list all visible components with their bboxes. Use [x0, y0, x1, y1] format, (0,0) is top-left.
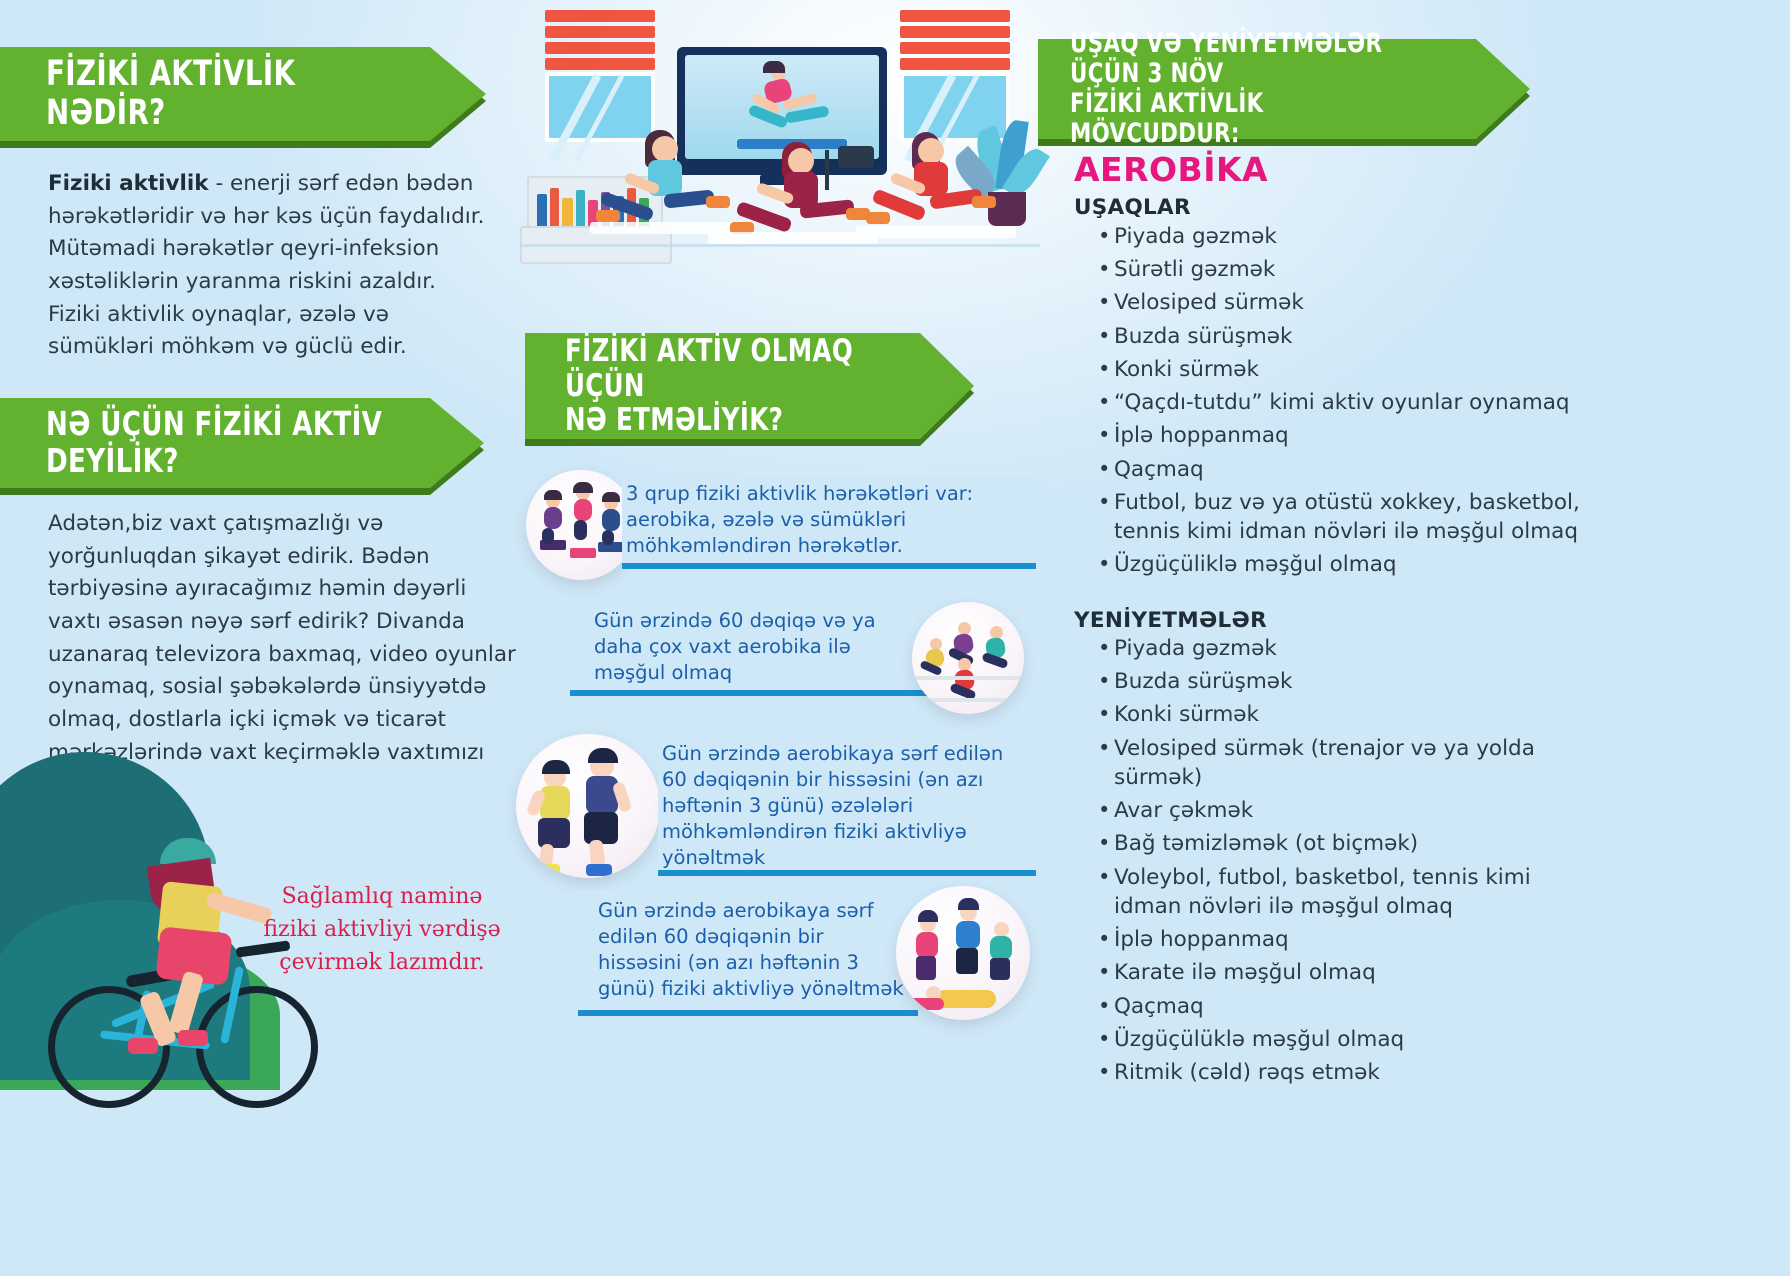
banner-arrow-tip	[430, 47, 486, 141]
group-workout-photo	[896, 886, 1030, 1020]
yoga-mat-2	[708, 232, 878, 244]
tv-box	[838, 146, 874, 168]
callout-4: Gün ərzində aerobikaya sərf edilən 60 də…	[578, 890, 918, 1010]
callout-4-text: Gün ərzində aerobikaya sərf edilən 60 də…	[594, 890, 918, 1011]
list-item: Avar çəkmək	[1098, 796, 1598, 825]
callout-3: Gün ərzində aerobikaya sərf edilən 60 də…	[658, 742, 1062, 870]
banner-three-types-line1: UŞAQ VƏ YENİYETMƏLƏR ÜÇÜN 3 NÖV	[1070, 28, 1382, 89]
list-item: İplə hoppanmaq	[1098, 925, 1598, 954]
quote-line-3: çevirmək lazımdır.	[258, 946, 506, 979]
banner-why-not-title: NƏ ÜÇÜN FİZİKİ AKTİV DEYİLİK?	[46, 406, 384, 480]
banner-what-to-do-title: FİZİKİ AKTİV OLMAQ ÜÇÜN NƏ ETMƏLİYİK?	[565, 334, 877, 438]
running-pair-photo	[516, 734, 660, 878]
list-item: Buzda sürüşmək	[1098, 667, 1598, 696]
step-aerobics-photo	[526, 470, 636, 580]
banner-why-not-active: NƏ ÜÇÜN FİZİKİ AKTİV DEYİLİK?	[0, 398, 484, 488]
list-item: Qaçmaq	[1098, 992, 1598, 1021]
definition-paragraph: Fiziki aktivlik - enerji sərf edən bədən…	[48, 168, 488, 364]
list-item: Buzda sürüşmək	[1098, 322, 1598, 351]
list-item: “Qaçdı-tutdu” kimi aktiv oyunlar oynamaq	[1098, 388, 1598, 417]
banner-arrow-tip	[920, 333, 974, 439]
list-item: Voleybol, futbol, basketbol, tennis kimi…	[1098, 863, 1598, 921]
teens-activity-list: Piyada gəzməkBuzda sürüşməkKonki sürməkV…	[1074, 634, 1598, 1091]
banner-three-types: UŞAQ VƏ YENİYETMƏLƏR ÜÇÜN 3 NÖV FİZİKİ A…	[1038, 39, 1530, 139]
list-item: Piyada gəzmək	[1098, 222, 1598, 251]
quote-line-1: Sağlamlıq naminə	[258, 880, 506, 913]
children-heading: UŞAQLAR	[1074, 195, 1191, 220]
list-item: Piyada gəzmək	[1098, 634, 1598, 663]
yoga-mat-3	[856, 226, 1016, 238]
banner-what-is-title: FİZİKİ AKTİVLİK NƏDİR?	[46, 55, 384, 133]
rider-shoe-1	[178, 1030, 208, 1046]
callout-2: Gün ərzində 60 dəqiqə və ya daha çox vax…	[570, 604, 932, 690]
list-item: Qaçmaq	[1098, 455, 1598, 484]
group-stretching-photo	[912, 602, 1024, 714]
tv-screen	[685, 55, 879, 159]
definition-bold-lead: Fiziki aktivlik	[48, 171, 209, 196]
window-blind-left	[545, 10, 655, 72]
banner-arrow-tip	[1476, 39, 1530, 139]
banner-what-is-physical-activity: FİZİKİ AKTİVLİK NƏDİR?	[0, 47, 486, 141]
teens-heading: YENİYETMƏLƏR	[1074, 608, 1267, 633]
list-item: Üzgüçüliklə məşğul olmaq	[1098, 550, 1598, 579]
banner-what-to-do-line2: NƏ ETMƏLİYİK?	[565, 402, 783, 438]
quote-line-2: fiziki aktivliyi vərdişə	[258, 913, 506, 946]
list-item: Velosiped sürmək (trenajor və ya yolda s…	[1098, 734, 1598, 792]
list-item: Konki sürmək	[1098, 355, 1598, 384]
list-item: Ritmik (cəld) rəqs etmək	[1098, 1058, 1598, 1087]
list-item: Sürətli gəzmək	[1098, 255, 1598, 284]
banner-arrow-tip	[430, 398, 484, 488]
banner-three-types-title: UŞAQ VƏ YENİYETMƏLƏR ÜÇÜN 3 NÖV FİZİKİ A…	[1070, 29, 1427, 150]
callout-2-text: Gün ərzində 60 dəqiqə və ya daha çox vax…	[590, 600, 932, 694]
window-left	[545, 72, 655, 142]
list-item: İplə hoppanmaq	[1098, 421, 1598, 450]
list-item: Karate ilə məşğul olmaq	[1098, 958, 1598, 987]
banner-three-types-line2: FİZİKİ AKTİVLİK MÖVCUDDUR:	[1070, 88, 1264, 149]
children-activity-list: Piyada gəzməkSürətli gəzməkVelosiped sür…	[1074, 222, 1598, 584]
list-item: Futbol, buz və ya otüstü xokkey, basketb…	[1098, 488, 1598, 546]
window-blind-right	[900, 10, 1010, 72]
aerobika-heading: AEROBİKA	[1074, 150, 1268, 189]
callout-1: 3 qrup fiziki aktivlik hərəkətləri var: …	[622, 477, 1062, 563]
list-item: Üzgüçülüklə məşğul olmaq	[1098, 1025, 1598, 1054]
infographic-page: FİZİKİ AKTİVLİK NƏDİR? Fiziki aktivlik -…	[0, 0, 1790, 1276]
list-item: Bağ təmizləmək (ot biçmək)	[1098, 829, 1598, 858]
rider-shoe-2	[128, 1038, 158, 1054]
callout-3-text: Gün ərzində aerobikaya sərf edilən 60 də…	[658, 733, 1036, 880]
bike-wheel-front	[196, 986, 318, 1108]
list-item: Konki sürmək	[1098, 700, 1598, 729]
definition-body: - enerji sərf edən bədən hərəkətləridir …	[48, 171, 484, 359]
health-quote: Sağlamlıq naminə fiziki aktivliyi vərdiş…	[258, 880, 506, 979]
list-item: Velosiped sürmək	[1098, 288, 1598, 317]
callout-1-text: 3 qrup fiziki aktivlik hərəkətləri var: …	[622, 473, 1036, 567]
banner-what-to-do-line1: FİZİKİ AKTİV OLMAQ ÜÇÜN	[565, 333, 853, 404]
banner-what-to-do: FİZİKİ AKTİV OLMAQ ÜÇÜN NƏ ETMƏLİYİK?	[525, 333, 974, 439]
tv-cable	[825, 150, 829, 190]
